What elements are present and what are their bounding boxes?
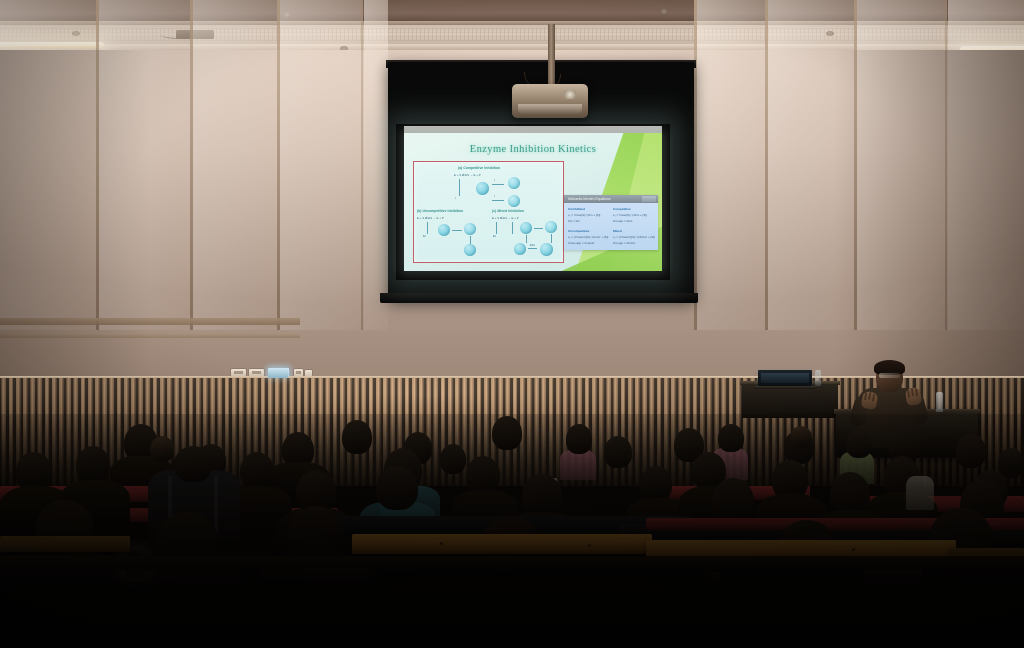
backpack-strap [214, 476, 218, 532]
reaction-arrow [551, 234, 552, 243]
molecule-glyph [508, 195, 520, 207]
wall-panel [697, 0, 765, 330]
molecule-glyph [464, 244, 476, 256]
equation-cell-name: Uncompetitive [568, 229, 612, 233]
audience-head [846, 430, 872, 458]
desk-bolt [852, 548, 855, 551]
foreground-desk-bar [352, 534, 652, 554]
audience-head [604, 436, 632, 468]
diagram-equation-b: E + S ⇌ ES → E + P [417, 216, 444, 220]
equation-cell-name: Uninhibited [568, 207, 612, 211]
equation-cell-formula: v₀ = Vmax[S] / (Km + [S]) [568, 213, 612, 217]
equation-cell-note: Vmax,app = Vmax/α' [568, 241, 612, 245]
diagram-equation-a: E + S ⇌ ES → E + P [454, 173, 481, 177]
molecule-glyph [540, 243, 553, 256]
wall-display-screen[interactable] [268, 368, 288, 378]
floor-fixture [196, 596, 200, 600]
diagram-equation-c: E + S ⇌ ES → E + P [492, 216, 519, 220]
audience-head [790, 426, 812, 448]
molecule-glyph [438, 224, 450, 236]
wall-panel [0, 0, 96, 330]
reaction-arrow [427, 222, 428, 234]
equation-cell-name: Mixed [613, 229, 657, 233]
reaction-arrow [534, 228, 543, 229]
audience-head [376, 466, 418, 510]
reaction-arrow [492, 184, 504, 185]
equation-cell-formula: v₀ = (Vmax/α')[S] / (αKm/α' + [S]) [613, 235, 657, 239]
audience-head [440, 444, 466, 474]
molecule-glyph [508, 177, 520, 189]
audience-torso [560, 450, 596, 480]
presentation-slide: Enzyme Inhibition Kinetics (a) Competiti… [404, 133, 662, 271]
molecule-glyph [545, 221, 557, 233]
wall-panel-seam [765, 0, 768, 330]
wall-panel [768, 0, 854, 330]
ceiling-projector [512, 84, 588, 118]
foreground-floor [0, 588, 1024, 648]
audience-head [492, 416, 522, 450]
wall-panel [193, 0, 277, 330]
audience-head [718, 424, 744, 452]
diagram-section-label-c: (c) Mixed Inhibition [492, 209, 524, 213]
presenter-laptop[interactable] [758, 370, 812, 386]
floor-fixture [708, 572, 722, 579]
wall-panel-seam [277, 0, 280, 330]
desk-bolt [588, 544, 591, 547]
wall-panel [99, 0, 190, 330]
equation-cell-mixed: Mixed v₀ = (Vmax/α')[S] / (αKm/α' + [S])… [613, 229, 657, 245]
desk-support-bracket [864, 570, 922, 584]
inhibitor-label: I [494, 178, 495, 182]
equation-cell-note: Km,app = αKm [613, 219, 657, 223]
wall-panel-seam [945, 0, 947, 330]
equation-panel-title: Michaelis-Menten Equations [568, 197, 611, 201]
molecule-glyph [514, 243, 526, 255]
slide-title: Enzyme Inhibition Kinetics [404, 144, 662, 155]
audience-head [956, 434, 986, 468]
reaction-arrow [526, 235, 527, 243]
wall-panel [364, 0, 388, 330]
stage-desk [742, 384, 838, 418]
desk-front-edge [0, 556, 1024, 570]
floor-fixture [432, 598, 436, 602]
inhibitor-label: ESI [530, 243, 535, 247]
reaction-arrow [528, 248, 537, 249]
equation-cell-uncompetitive: Uncompetitive v₀ = (Vmax/α')[S] / (Km/α'… [568, 229, 612, 245]
equation-cell-note: Km = Km [568, 219, 612, 223]
screen-weight-bar [380, 293, 698, 303]
desk-support-bracket [306, 568, 366, 580]
equation-cell-uninhibited: Uninhibited v₀ = Vmax[S] / (Km + [S]) Km… [568, 207, 612, 223]
inhibitor-label: EI [493, 234, 496, 238]
slide-diagram-box: (a) Competitive Inhibition E + S ⇌ ES → … [413, 161, 564, 263]
laptop-base [754, 386, 816, 389]
panel-window-controls[interactable] [642, 196, 656, 202]
floor-fixture [146, 594, 150, 598]
equation-panel-header: Michaelis-Menten Equations [564, 195, 658, 203]
projector-lens [564, 90, 576, 99]
inhibitor-label: I [455, 196, 456, 200]
wall-panel-seam [854, 0, 857, 330]
wall-panel-seam [694, 0, 697, 330]
audience-head [174, 446, 212, 482]
inhibitor-label: EI [423, 234, 426, 238]
wall-panel [857, 0, 945, 330]
wall-panel [280, 0, 361, 330]
equation-cell-formula: v₀ = Vmax[S] / (αKm + [S]) [613, 213, 657, 217]
wall-panel-seam [96, 0, 99, 330]
lecture-hall-photo: Enzyme Inhibition Kinetics (a) Competiti… [0, 0, 1024, 648]
equation-cell-name: Competitive [613, 207, 657, 211]
audience-head [240, 452, 274, 490]
audience-head [566, 424, 592, 454]
wall-chair-rail [0, 318, 300, 325]
equation-panel: Michaelis-Menten Equations Uninhibited v… [564, 195, 658, 250]
presenter-glasses [879, 373, 900, 378]
diagram-section-label-b: (b) Uncompetitive Inhibition [417, 209, 463, 213]
audience-head [640, 466, 672, 502]
wall-panel-seam [361, 0, 363, 330]
inhibitor-label: I [494, 194, 495, 198]
audience-head [466, 456, 500, 494]
audience-head [150, 436, 174, 462]
molecule-glyph [476, 182, 489, 195]
foreground-desk-bar [0, 536, 130, 552]
audience-head [76, 446, 110, 484]
audience-torso [906, 476, 934, 510]
equation-cell-formula: v₀ = (Vmax/α')[S] / (Km/α' + [S]) [568, 235, 612, 239]
equation-cell-note: Km,app = αKm/α' [613, 241, 657, 245]
molecule-glyph [520, 222, 532, 234]
ceiling-fixture-dot [660, 9, 668, 14]
desk-bolt [440, 542, 443, 545]
wall-panel [948, 0, 1024, 330]
presenter-hand-right [905, 387, 922, 406]
diagram-section-label-a: (a) Competitive Inhibition [458, 166, 500, 170]
reaction-arrow [496, 222, 497, 234]
equation-cell-competitive: Competitive v₀ = Vmax[S] / (αKm + [S]) K… [613, 207, 657, 223]
reaction-arrow [492, 200, 504, 201]
reaction-arrow [512, 222, 513, 234]
reaction-arrow [452, 230, 462, 231]
wall-panel-seam [190, 0, 193, 330]
audience-head [342, 420, 372, 454]
reaction-arrow [459, 179, 460, 196]
water-bottle [815, 370, 821, 386]
wall-chair-rail [0, 333, 300, 338]
molecule-glyph [464, 223, 476, 235]
